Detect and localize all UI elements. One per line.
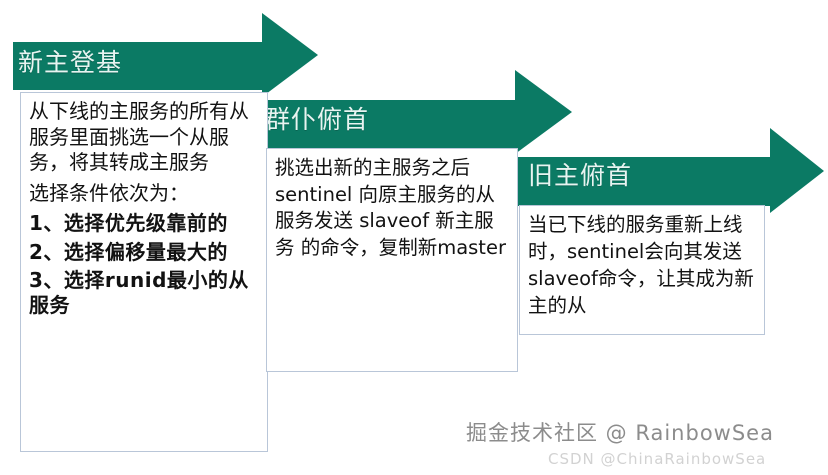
description-box-step-1: 从下线的主服务的所有从服务里面挑选一个从服务，将其转成主服务 选择条件依次为： … <box>20 92 268 452</box>
description-paragraph: 2、选择偏移量最大的 <box>29 239 259 266</box>
description-paragraph: 当已下线的服务重新上线时，sentinel会向其发送slaveof命令，让其成为… <box>528 212 756 320</box>
description-paragraph: 挑选出新的主服务之后 sentinel 向原主服务的从服务发送 slaveof … <box>275 155 509 261</box>
description-paragraph: 1、选择优先级靠前的 <box>29 210 259 237</box>
watermark-primary: 掘金技术社区 @ RainbowSea <box>466 417 774 447</box>
diagram-canvas: 新主登基 群仆俯首 旧主俯首 从下线的主服务的所有从服务里面挑选一个从服务，将其… <box>0 0 828 475</box>
description-box-step-2: 挑选出新的主服务之后 sentinel 向原主服务的从服务发送 slaveof … <box>266 148 518 372</box>
watermark-secondary: CSDN @ChinaRainbowSea <box>548 450 766 468</box>
step-title-old-master-follow: 旧主俯首 <box>528 163 632 188</box>
description-paragraph: 3、选择runid最小的从服务 <box>29 268 259 319</box>
description-body-step-3: 当已下线的服务重新上线时，sentinel会向其发送slaveof命令，让其成为… <box>520 206 764 320</box>
description-body-step-2: 挑选出新的主服务之后 sentinel 向原主服务的从服务发送 slaveof … <box>267 149 517 261</box>
description-box-step-3: 当已下线的服务重新上线时，sentinel会向其发送slaveof命令，让其成为… <box>519 205 765 335</box>
step-title-new-master: 新主登基 <box>18 50 122 75</box>
description-body-step-1: 从下线的主服务的所有从服务里面挑选一个从服务，将其转成主服务 选择条件依次为： … <box>21 93 267 319</box>
step-title-slaves-follow: 群仆俯首 <box>265 107 369 132</box>
description-paragraph: 从下线的主服务的所有从服务里面挑选一个从服务，将其转成主服务 <box>29 99 259 176</box>
description-paragraph: 选择条件依次为： <box>29 180 259 207</box>
